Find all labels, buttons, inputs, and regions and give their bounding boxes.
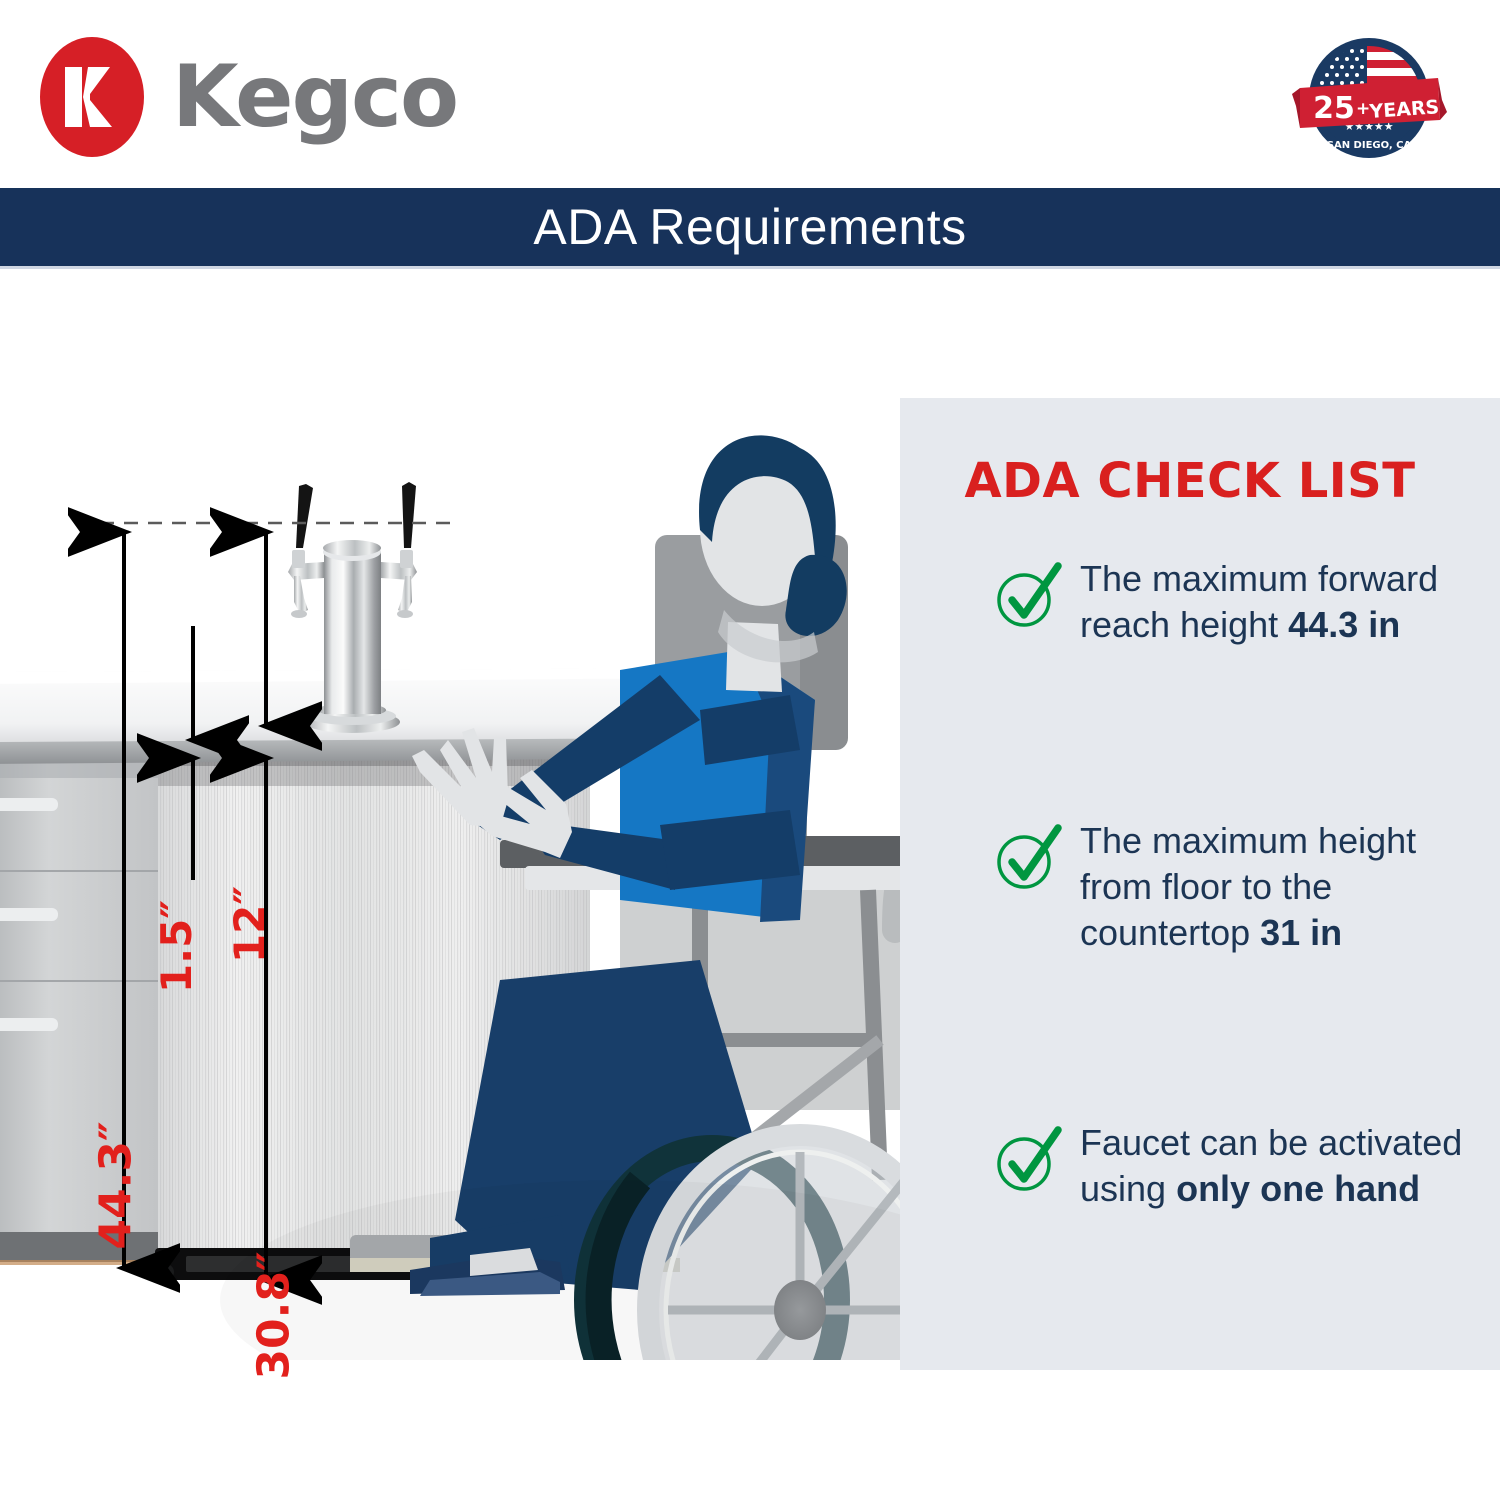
kegco-k-logo-icon [40,37,144,157]
green-checkmark-icon [990,560,1062,632]
checklist-title: ADA CHECK LIST [900,453,1480,509]
checklist-item: The maximum forward reach height 44.3 in [990,556,1490,648]
drawer-handle [0,1018,58,1031]
dimension-label-tower-height: 12″ [225,886,274,963]
brand-name: Kegco [172,54,457,140]
checklist-item-value: only one hand [1176,1168,1420,1209]
logo-k-glyph [40,37,144,157]
faucet-spout [294,576,308,614]
green-checkmark-icon [990,1124,1062,1196]
title-band: ADA Requirements [0,188,1500,266]
checklist-item-value: 31 in [1260,912,1342,953]
checklist-item-text: The maximum height from floor to the cou… [1080,818,1480,956]
badge-svg: ★★★★★ 25 + YEARS SAN DIEGO, CA [1290,28,1448,178]
black-tap-handles [296,482,416,548]
checklist-item: Faucet can be activated using only one h… [990,1120,1490,1212]
drawer-handle [0,798,58,811]
checklist-item-text: Faucet can be activated using only one h… [1080,1120,1480,1212]
badge-location: SAN DIEGO, CA [1327,140,1412,151]
checklist-item-value: 44.3 in [1288,604,1400,645]
illustration-svg [0,280,1020,1360]
badge-years-number: 25 [1313,91,1355,126]
ada-illustration: 44.3″ 1.5″ 12″ 30.8″ [0,280,1020,1360]
title-band-underline [0,266,1500,269]
checklist-item-text: The maximum forward reach height 44.3 in [1080,556,1480,648]
anniversary-badge: ★★★★★ 25 + YEARS SAN DIEGO, CA [1290,28,1448,178]
brand-logo: Kegco [40,36,560,158]
drawer-handle [0,908,58,921]
checklist-item: The maximum height from floor to the cou… [990,818,1490,956]
dimension-label-overhang: 1.5″ [152,900,201,993]
dimension-label-cabinet-height: 30.8″ [249,1251,300,1379]
checklist-item-text-lead: The maximum height from floor to the cou… [1080,820,1416,953]
ada-checklist-panel: ADA CHECK LIST The maximum forward reach… [900,398,1500,1370]
dimension-label-total-height: 44.3″ [91,1121,142,1249]
green-checkmark-icon [990,822,1062,894]
page-title: ADA Requirements [533,198,966,256]
faucet-spout [398,576,412,614]
